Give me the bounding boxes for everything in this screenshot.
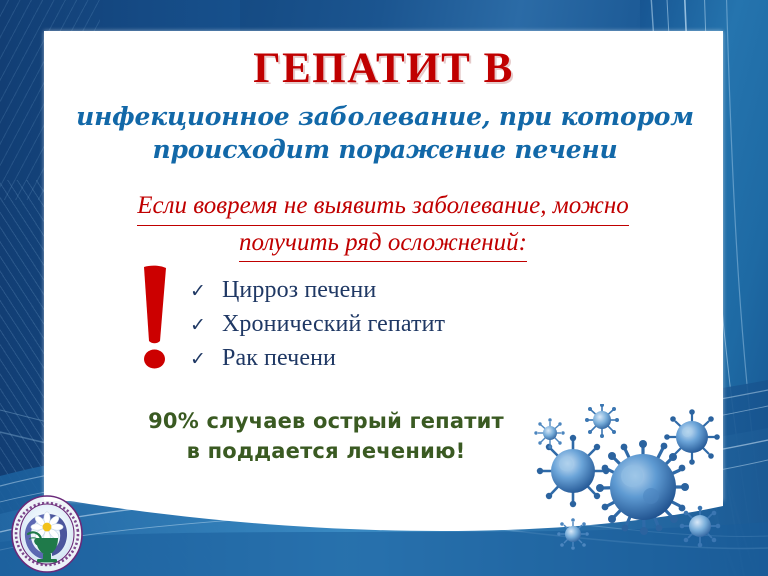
list-item-label: Рак печени (222, 345, 336, 372)
virus-small-bottom-right (680, 506, 721, 548)
virus-medium-left (537, 435, 609, 507)
exclamation-mark-icon (138, 265, 172, 370)
virus-medium-right (664, 409, 720, 465)
treatment-note-line-1: 90% случаев острый гепатит (66, 407, 586, 437)
subtitle-line-2: происходит поражение печени (70, 134, 700, 167)
list-item: ✓ Хронический гепатит (190, 311, 610, 339)
slide: ГЕПАТИТ В инфекционное заболевание, при … (0, 0, 768, 576)
virus-small-bottom-left (557, 518, 589, 550)
virus-particles-illustration (528, 404, 738, 564)
check-icon: ✓ (190, 282, 222, 301)
organization-logo (8, 494, 86, 574)
list-item: ✓ Рак печени (190, 345, 610, 373)
list-item-label: Хронический гепатит (222, 311, 445, 338)
check-icon: ✓ (190, 316, 222, 335)
complications-list: ✓ Цирроз печени ✓ Хронический гепатит ✓ … (190, 277, 610, 379)
page-title: ГЕПАТИТ В (44, 47, 723, 90)
check-icon: ✓ (190, 350, 222, 369)
warning-line-1: Если вовремя не выявить заболевание, мож… (137, 189, 629, 226)
list-item: ✓ Цирроз печени (190, 277, 610, 305)
warning-text: Если вовремя не выявить заболевание, мож… (58, 189, 708, 262)
virus-small-left (534, 418, 564, 448)
warning-line-2: получить ряд осложнений: (239, 226, 527, 263)
treatment-note: 90% случаев острый гепатит в поддается л… (66, 407, 586, 467)
treatment-note-line-2: в поддается лечению! (66, 437, 586, 467)
subtitle-line-1: инфекционное заболевание, при котором (70, 101, 700, 134)
list-item-label: Цирроз печени (222, 277, 376, 304)
subtitle: инфекционное заболевание, при котором пр… (70, 101, 700, 166)
virus-small-top (585, 404, 619, 438)
